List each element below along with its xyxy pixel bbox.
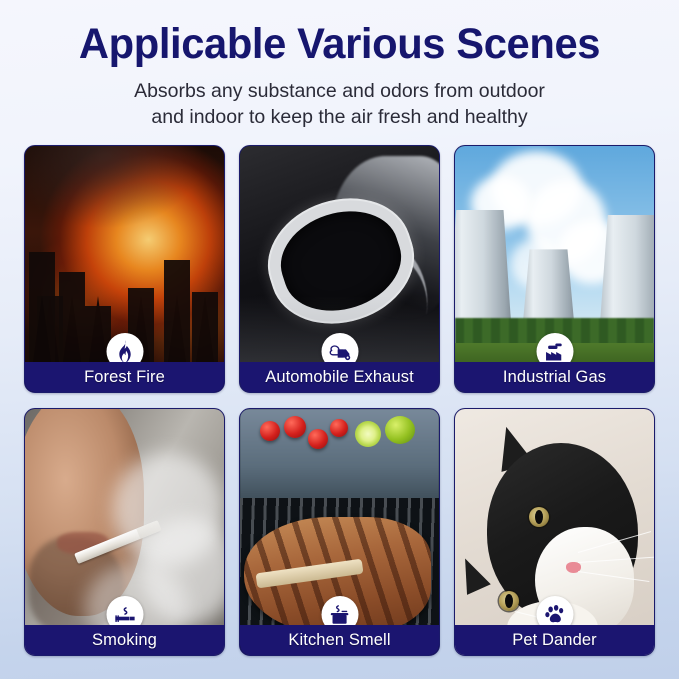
scene-label-bar-automobile-exhaust: Automobile Exhaust [240,362,439,392]
scene-label-kitchen-smell: Kitchen Smell [288,631,390,650]
scene-label-bar-smoking: Smoking [25,625,224,655]
scene-label-bar-kitchen-smell: Kitchen Smell [240,625,439,655]
scene-label-bar-forest-fire: Forest Fire [25,362,224,392]
page-subtitle: Absorbs any substance and odors from out… [60,79,620,130]
scene-label-forest-fire: Forest Fire [84,368,165,387]
infographic-page: Applicable Various Scenes Absorbs any su… [0,0,679,679]
header: Applicable Various Scenes Absorbs any su… [0,0,679,131]
scene-label-bar-industrial-gas: Industrial Gas [455,362,654,392]
scene-label-pet-dander: Pet Dander [512,631,596,650]
scene-label-smoking: Smoking [92,631,157,650]
scene-card-smoking[interactable]: Smoking [24,408,225,656]
scene-grid: Forest Fire Automobile Ex [24,145,655,656]
scene-label-bar-pet-dander: Pet Dander [455,625,654,655]
scene-label-industrial-gas: Industrial Gas [503,368,606,387]
scene-card-industrial-gas[interactable]: Industrial Gas [454,145,655,393]
scene-card-kitchen-smell[interactable]: Kitchen Smell [239,408,440,656]
scene-card-forest-fire[interactable]: Forest Fire [24,145,225,393]
scene-card-automobile-exhaust[interactable]: Automobile Exhaust [239,145,440,393]
scene-label-automobile-exhaust: Automobile Exhaust [265,368,414,387]
scene-card-pet-dander[interactable]: Pet Dander [454,408,655,656]
subtitle-line-2: and indoor to keep the air fresh and hea… [60,105,620,131]
subtitle-line-1: Absorbs any substance and odors from out… [60,79,620,105]
page-title: Applicable Various Scenes [10,22,669,67]
